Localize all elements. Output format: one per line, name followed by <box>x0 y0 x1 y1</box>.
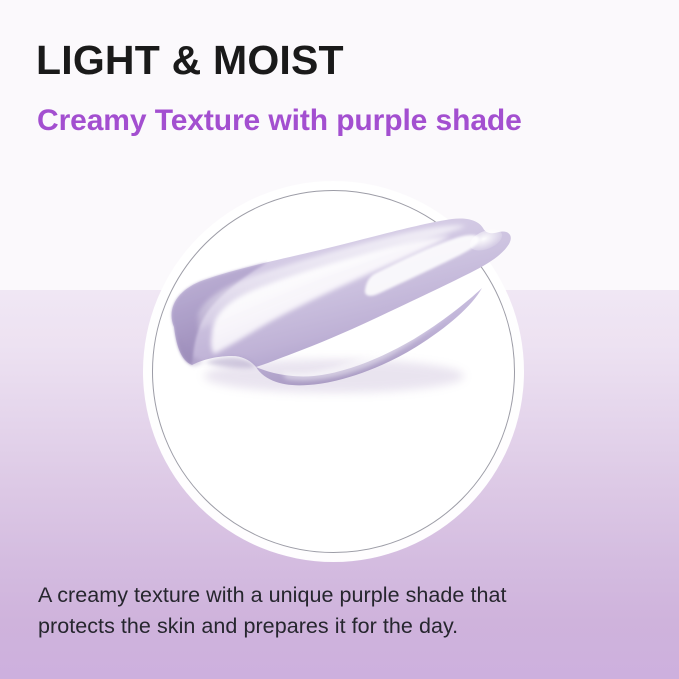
description-text: A creamy texture with a unique purple sh… <box>38 580 598 642</box>
description-line-1: A creamy texture with a unique purple sh… <box>38 580 598 611</box>
page-title: LIGHT & MOIST <box>36 39 344 82</box>
circle-plate <box>152 190 515 553</box>
description-line-2: protects the skin and prepares it for th… <box>38 611 598 642</box>
product-texture-circle <box>152 190 515 553</box>
page-subtitle: Creamy Texture with purple shade <box>37 104 522 137</box>
product-feature-card: LIGHT & MOIST Creamy Texture with purple… <box>0 0 679 679</box>
